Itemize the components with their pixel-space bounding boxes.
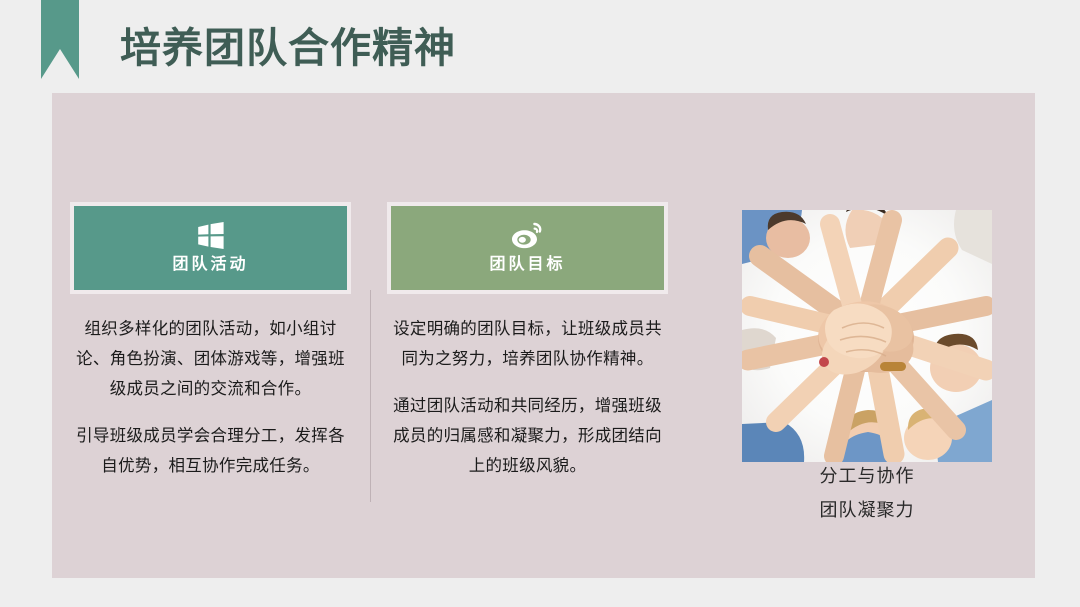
windows-panes-icon xyxy=(196,221,226,251)
paragraph: 通过团队活动和共同经历，增强班级成员的归属感和凝聚力，形成团结向上的班级风貌。 xyxy=(387,391,668,481)
card-title: 团队目标 xyxy=(489,255,565,275)
hands-stacked-teamwork-photo xyxy=(742,210,992,462)
photo-caption-2: 团队凝聚力 xyxy=(742,496,992,522)
column-divider xyxy=(370,290,371,502)
page-title: 培养团队合作精神 xyxy=(120,18,456,78)
bookmark-ribbon-icon xyxy=(41,0,79,79)
card-title: 团队活动 xyxy=(172,255,248,275)
photo-caption-1: 分工与协作 xyxy=(742,462,992,488)
column-team-goal: 团队目标 设定明确的团队目标，让班级成员共同为之努力，培养团队协作精神。 通过团… xyxy=(387,202,668,481)
content-panel: 团队活动 组织多样化的团队活动，如小组讨论、角色扮演、团体游戏等，增强班级成员之… xyxy=(52,93,1035,578)
card-team-goal[interactable]: 团队目标 xyxy=(387,202,668,294)
slide-root: 培养团队合作精神 团队活动 组织多样化的团队 xyxy=(0,0,1080,607)
paragraph: 引导班级成员学会合理分工，发挥各自优势，相互协作完成任务。 xyxy=(70,421,351,481)
paragraph: 组织多样化的团队活动，如小组讨论、角色扮演、团体游戏等，增强班级成员之间的交流和… xyxy=(70,314,351,404)
column-team-activity: 团队活动 组织多样化的团队活动，如小组讨论、角色扮演、团体游戏等，增强班级成员之… xyxy=(70,202,351,481)
weibo-eye-icon xyxy=(511,221,545,251)
paragraph: 设定明确的团队目标，让班级成员共同为之努力，培养团队协作精神。 xyxy=(387,314,668,374)
card-team-activity[interactable]: 团队活动 xyxy=(70,202,351,294)
